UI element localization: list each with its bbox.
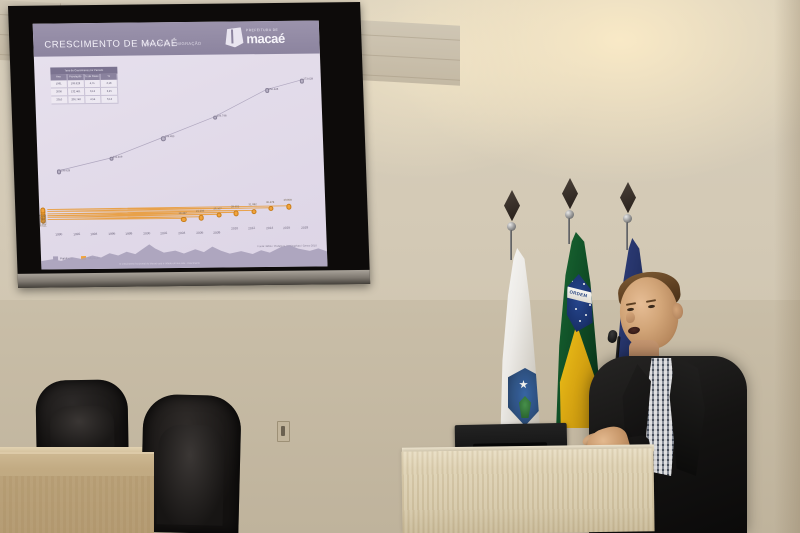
- data-label: 25.307: [213, 207, 221, 210]
- data-label: 132.409: [113, 156, 123, 159]
- flag-pole: [510, 230, 512, 260]
- x-axis-tick: 1992: [73, 232, 80, 237]
- wooden-podium: [401, 448, 654, 533]
- flag-pole: [626, 222, 628, 250]
- office-chair: [35, 379, 128, 457]
- speaker-nose: [626, 312, 635, 323]
- x-axis-tick: 2002: [160, 231, 167, 236]
- data-label: 273.628: [303, 78, 313, 81]
- projection-screen: CRESCIMENTO DE MACAÉ POPULAÇÃO E MIGRAÇÃ…: [8, 2, 370, 296]
- x-axis-tick: 2014: [266, 226, 273, 231]
- x-axis-tick: 1994: [90, 232, 97, 237]
- chart-x-axis: 1990199219941996199820002002200420062008…: [48, 227, 320, 242]
- flag-pole: [568, 218, 570, 244]
- x-axis-tick: 2008: [213, 230, 220, 235]
- x-axis-tick: 1990: [55, 232, 62, 237]
- data-label: 21.296: [196, 210, 204, 213]
- x-axis-tick: 1996: [108, 231, 115, 236]
- wall-power-outlet: [277, 421, 290, 442]
- screen-bottom-bar: [18, 270, 371, 288]
- x-axis-tick: 2016: [283, 226, 290, 231]
- wooden-desk-panel: [0, 452, 154, 533]
- x-axis-tick: 2000: [143, 231, 150, 236]
- data-label: 206.748: [217, 115, 227, 118]
- wall-corner-shadow: [774, 0, 800, 533]
- data-label: 109.628: [60, 169, 70, 172]
- data-label: 18.487: [178, 211, 186, 214]
- data-point: [40, 208, 45, 213]
- macae-logo: PREFEITURA DE macaé: [225, 24, 312, 51]
- x-axis-tick: 2010: [231, 226, 238, 231]
- chart-lines: [42, 57, 320, 232]
- data-label: 256.428: [268, 88, 278, 91]
- data-label: 28.653: [231, 205, 239, 208]
- growth-chart: 109.628132.409169.453206.748256.428273.6…: [42, 57, 320, 232]
- x-axis-tick: 2006: [196, 230, 203, 235]
- leaf-icon: [517, 396, 533, 418]
- x-axis-tick: 1998: [125, 231, 132, 236]
- x-axis-tick: 2018: [301, 225, 308, 230]
- data-point: [181, 217, 186, 222]
- data-label: 39.808: [283, 199, 291, 202]
- logo-wordmark: macaé: [246, 32, 285, 45]
- conference-room-photo: CRESCIMENTO DE MACAÉ POPULAÇÃO E MIGRAÇÃ…: [0, 0, 800, 533]
- presentation-slide: CRESCIMENTO DE MACAÉ POPULAÇÃO E MIGRAÇÃ…: [33, 20, 328, 269]
- data-label: 31.982: [248, 203, 256, 206]
- x-axis-tick: 2012: [248, 226, 255, 231]
- data-label: 36.478: [266, 201, 274, 204]
- macae-logo-icon: [225, 27, 244, 47]
- data-point: [199, 215, 204, 220]
- data-point: [251, 209, 256, 214]
- data-label: 169.453: [165, 135, 175, 138]
- star-icon: [519, 380, 528, 389]
- office-chair: [140, 394, 241, 533]
- data-point: [234, 211, 239, 216]
- data-label: 38.044: [38, 215, 46, 218]
- band-text: ORDEM: [569, 289, 588, 298]
- slide-subtitle: POPULAÇÃO E MIGRAÇÃO: [141, 41, 201, 47]
- blazer-right-lapel: [667, 356, 711, 476]
- x-axis-tick: 2004: [178, 231, 185, 236]
- data-point: [286, 204, 291, 209]
